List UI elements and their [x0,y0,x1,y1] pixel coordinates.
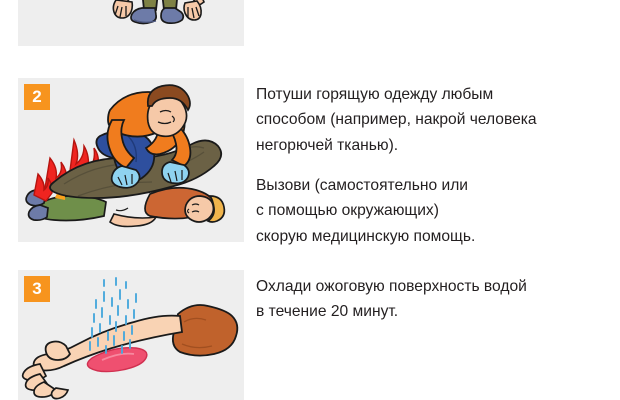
step-2-paragraph-1: Потуши горящую одежду любым способом (на… [256,82,616,158]
rescuer-smothering-flames-with-blanket-illustration [18,78,244,242]
step-2-number-badge: 2 [24,84,50,110]
warning-triangle-and-standing-person-illustration [18,0,244,46]
step-2-block: 2 Потуши горящую одежду любым способом (… [0,78,620,242]
cooling-burned-forearm-with-water-illustration [18,270,244,400]
victim-head [185,196,224,222]
step-3-block: 3 Охлади ожоговую поверхность водой в те… [0,270,620,400]
step-1-illustration-panel [18,0,244,46]
step-2-paragraph-2: Вызови (самостоятельно или с помощью окр… [256,173,616,249]
step-1-block [0,0,620,48]
step-3-illustration-panel: 3 [18,270,244,400]
step-3-number-badge: 3 [24,276,50,302]
step-3-paragraph-1: Охлади ожоговую поверхность водой в тече… [256,274,616,325]
step-2-illustration-panel: 2 [18,78,244,242]
